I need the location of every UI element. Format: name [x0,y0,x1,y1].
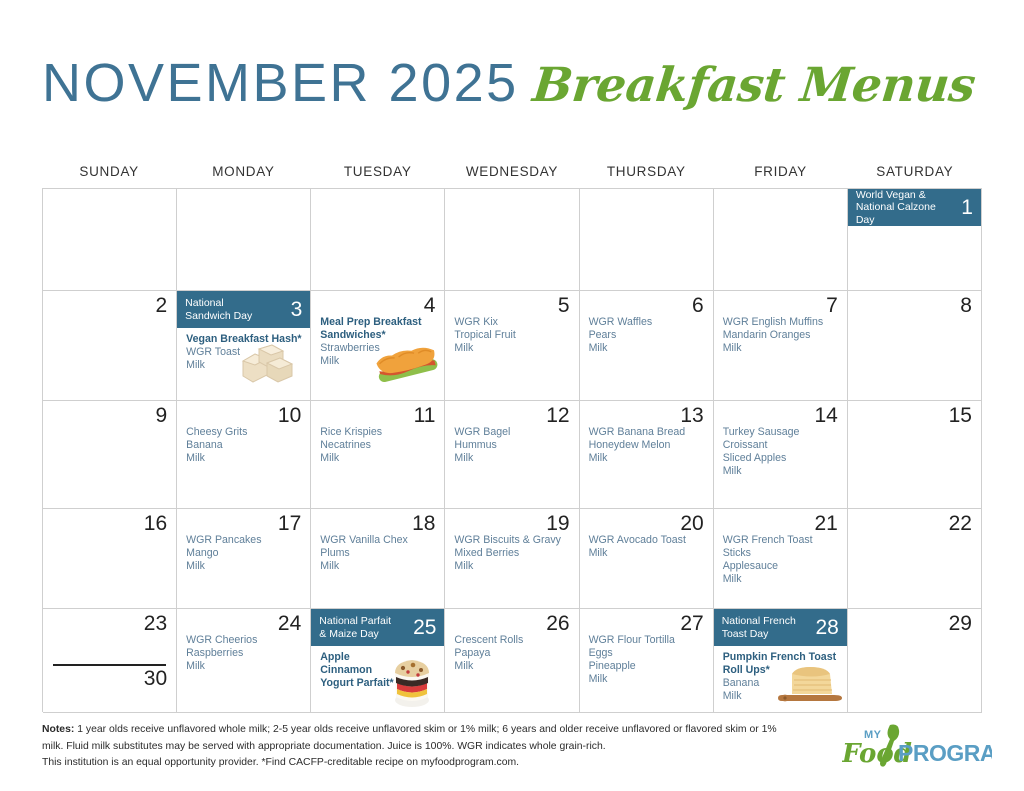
menu-item: WGR Waffles [589,316,708,329]
menu-item: Milk [186,359,305,372]
calendar-cell-15[interactable]: 15 [848,401,982,509]
menu-list: Pumpkin French Toast Roll Ups* Banana Mi… [723,651,842,703]
menu-item: Meal Prep Breakfast Sandwiches* [320,316,439,342]
menu-item: WGR Flour Tortilla [589,634,708,647]
menu-item: Banana [186,439,305,452]
day-number: 7 [826,294,838,317]
calendar-cell-20[interactable]: 20 WGR Avocado Toast Milk [580,509,714,609]
menu-item: Milk [589,547,708,560]
special-day-label: World Vegan & National Calzone Day [856,189,957,226]
menu-item: Mango [186,547,305,560]
calendar-cell-24[interactable]: 24 WGR Cheerios Raspberries Milk [177,609,311,713]
menu-item: Milk [320,355,439,368]
menu-list: WGR Flour Tortilla Eggs Pineapple Milk [589,634,708,686]
calendar-page: NOVEMBER 2025 Breakfast Menus SUNDAY MON… [0,0,1024,791]
menu-item: Milk [186,660,305,673]
menu-item: WGR English Muffins [723,316,842,329]
special-day-banner: World Vegan & National Calzone Day 1 [848,189,981,226]
menu-item: WGR Bagel [454,426,573,439]
calendar-grid: World Vegan & National Calzone Day 1 2 N… [42,188,982,712]
day-number: 1 [957,197,973,218]
calendar-cell-9[interactable]: 9 [43,401,177,509]
menu-list: WGR English Muffins Mandarin Oranges Mil… [723,316,842,355]
menu-item: WGR Banana Bread [589,426,708,439]
menu-item: WGR Biscuits & Gravy [454,534,573,547]
menu-list: WGR Banana Bread Honeydew Melon Milk [589,426,708,465]
calendar-cell-28[interactable]: National French Toast Day 28 Pumpkin Fre… [714,609,848,713]
my-food-program-logo: MY Food PROGRAM [842,722,992,774]
menu-list: WGR Kix Tropical Fruit Milk [454,316,573,355]
menu-item: Milk [454,560,573,573]
day-number: 24 [278,612,301,635]
day-number: 19 [546,512,569,535]
menu-list: Turkey Sausage Croissant Sliced Apples M… [723,426,842,478]
calendar-cell-22[interactable]: 22 [848,509,982,609]
menu-item: Milk [723,342,842,355]
calendar-cell-27[interactable]: 27 WGR Flour Tortilla Eggs Pineapple Mil… [580,609,714,713]
day-number: 10 [278,404,301,427]
menu-list: Cheesy Grits Banana Milk [186,426,305,465]
calendar-cell-12[interactable]: 12 WGR Bagel Hummus Milk [445,401,579,509]
calendar-cell-3[interactable]: National Sandwich Day 3 Vegan Breakfast … [177,291,311,401]
calendar-cell-23-30[interactable]: 23 30 [43,609,177,713]
menu-list: Meal Prep Breakfast Sandwiches* Strawber… [320,316,439,368]
page-title: NOVEMBER 2025 Breakfast Menus [42,56,975,110]
menu-item: Milk [186,560,305,573]
special-day-label: National Sandwich Day [185,297,286,322]
menu-list: WGR French Toast Sticks Applesauce Milk [723,534,842,586]
calendar-cell-21[interactable]: 21 WGR French Toast Sticks Applesauce Mi… [714,509,848,609]
menu-list: WGR Avocado Toast Milk [589,534,708,560]
day-number: 20 [680,512,703,535]
day-number: 16 [144,512,167,535]
menu-item: WGR Toast [186,346,305,359]
menu-item: Banana [723,677,842,690]
menu-list: Apple Cinnamon Yogurt Parfait* [320,651,396,690]
weekday-friday: FRIDAY [713,164,847,188]
menu-item: Raspberries [186,647,305,660]
menu-list: WGR Bagel Hummus Milk [454,426,573,465]
calendar-cell-18[interactable]: 18 WGR Vanilla Chex Plums Milk [311,509,445,609]
calendar-cell-13[interactable]: 13 WGR Banana Bread Honeydew Melon Milk [580,401,714,509]
day-number: 12 [546,404,569,427]
menu-item: Milk [320,452,439,465]
menu-item: Strawberries [320,342,439,355]
calendar-cell-8[interactable]: 8 [848,291,982,401]
menu-item: Milk [589,673,708,686]
menu-list: WGR Waffles Pears Milk [589,316,708,355]
menu-item: Vegan Breakfast Hash* [186,333,305,346]
weekday-monday: MONDAY [176,164,310,188]
special-day-label: National Parfait & Maize Day [319,615,409,640]
day-number: 2 [155,294,167,317]
day-number: 29 [949,612,972,635]
menu-item: Milk [723,573,842,586]
notes-body: 1 year olds receive unflavored whole mil… [42,724,777,752]
menu-list: Rice Krispies Necatrines Milk [320,426,439,465]
calendar-cell-19[interactable]: 19 WGR Biscuits & Gravy Mixed Berries Mi… [445,509,579,609]
notes-second-line: This institution is an equal opportunity… [42,755,782,772]
calendar-cell-26[interactable]: 26 Crescent Rolls Papaya Milk [445,609,579,713]
day-number: 14 [814,404,837,427]
menu-item: Pineapple [589,660,708,673]
calendar-cell-10[interactable]: 10 Cheesy Grits Banana Milk [177,401,311,509]
calendar-cell-blank [43,189,177,291]
special-day-label: National French Toast Day [722,615,812,640]
calendar-cell-2[interactable]: 2 [43,291,177,401]
day-number: 21 [814,512,837,535]
weekday-saturday: SATURDAY [848,164,982,188]
menu-item: WGR French Toast Sticks [723,534,842,560]
menu-item: Milk [589,452,708,465]
day-number: 17 [278,512,301,535]
calendar-cell-blank [714,189,848,291]
menu-item: Applesauce [723,560,842,573]
calendar-cell-blank [445,189,579,291]
menu-item: Milk [454,452,573,465]
menu-item: WGR Cheerios [186,634,305,647]
calendar-cell-16[interactable]: 16 [43,509,177,609]
menu-item: Milk [723,690,842,703]
calendar-cell-14[interactable]: 14 Turkey Sausage Croissant Sliced Apple… [714,401,848,509]
day-number: 11 [414,404,436,427]
menu-item: Plums [320,547,439,560]
weekday-thursday: THURSDAY [579,164,713,188]
menu-list: WGR Biscuits & Gravy Mixed Berries Milk [454,534,573,573]
weekday-tuesday: TUESDAY [311,164,445,188]
menu-item: Milk [454,660,573,673]
menu-item: Croissant [723,439,842,452]
menu-list: Crescent Rolls Papaya Milk [454,634,573,673]
menu-item: Mandarin Oranges [723,329,842,342]
menu-item: WGR Pancakes [186,534,305,547]
menu-item: Apple Cinnamon Yogurt Parfait* [320,651,396,690]
menu-list: WGR Pancakes Mango Milk [186,534,305,573]
day-number: 23 [144,612,167,635]
menu-item: WGR Avocado Toast [589,534,708,547]
calendar-cell-blank [580,189,714,291]
special-day-banner: National Sandwich Day 3 [177,291,310,328]
day-number: 4 [424,294,436,317]
menu-item: Honeydew Melon [589,439,708,452]
calendar-cell-6[interactable]: 6 WGR Waffles Pears Milk [580,291,714,401]
menu-item: Mixed Berries [454,547,573,560]
notes-label: Notes: [42,724,74,735]
calendar-cell-1[interactable]: World Vegan & National Calzone Day 1 [848,189,982,291]
calendar-cell-blank [177,189,311,291]
menu-item: Sliced Apples [723,452,842,465]
menu-item: Cheesy Grits [186,426,305,439]
day-number: 18 [412,512,435,535]
menu-item: Crescent Rolls [454,634,573,647]
day-number: 6 [692,294,704,317]
calendar-cell-4[interactable]: 4 Meal Prep Breakfast Sandwiches* Strawb… [311,291,445,401]
calendar-cell-blank [311,189,445,291]
weekday-wednesday: WEDNESDAY [445,164,579,188]
menu-item: Turkey Sausage [723,426,842,439]
menu-item: Milk [320,560,439,573]
day-number: 13 [680,404,703,427]
day-number: 3 [287,299,303,320]
menu-item: Necatrines [320,439,439,452]
calendar-cell-29[interactable]: 29 [848,609,982,713]
calendar-cell-17[interactable]: 17 WGR Pancakes Mango Milk [177,509,311,609]
menu-item: Eggs [589,647,708,660]
menu-list: WGR Cheerios Raspberries Milk [186,634,305,673]
day-number: 26 [546,612,569,635]
calendar-cell-25[interactable]: National Parfait & Maize Day 25 Apple Ci… [311,609,445,713]
day-number: 8 [960,294,972,317]
menu-list: WGR Vanilla Chex Plums Milk [320,534,439,573]
menu-item: Milk [723,465,842,478]
menu-list: Vegan Breakfast Hash* WGR Toast Milk [186,333,305,372]
day-number: 25 [409,617,436,638]
day-number: 28 [811,617,838,638]
menu-item: Tropical Fruit [454,329,573,342]
month-year-title: NOVEMBER 2025 [42,56,519,110]
day-number: 5 [558,294,570,317]
day-number: 22 [949,512,972,535]
weekday-header-row: SUNDAY MONDAY TUESDAY WEDNESDAY THURSDAY… [42,164,982,188]
menu-item: Milk [186,452,305,465]
menu-item: WGR Kix [454,316,573,329]
weekday-sunday: SUNDAY [42,164,176,188]
footer-notes: Notes: 1 year olds receive unflavored wh… [42,722,782,772]
menu-item: Milk [589,342,708,355]
menu-item: Pumpkin French Toast Roll Ups* [723,651,842,677]
menu-item: Papaya [454,647,573,660]
calendar-cell-11[interactable]: 11 Rice Krispies Necatrines Milk [311,401,445,509]
special-day-banner: National Parfait & Maize Day 25 [311,609,444,646]
day-number: 15 [949,404,972,427]
menu-item: Rice Krispies [320,426,439,439]
menu-item: Milk [454,342,573,355]
calendar-cell-5[interactable]: 5 WGR Kix Tropical Fruit Milk [445,291,579,401]
day-number: 9 [155,404,167,427]
menu-item: Pears [589,329,708,342]
menu-item: Hummus [454,439,573,452]
menus-subtitle: Breakfast Menus [530,62,977,109]
menu-item: WGR Vanilla Chex [320,534,439,547]
day-number-secondary: 30 [144,667,167,690]
svg-text:PROGRAM: PROGRAM [898,740,992,766]
calendar-cell-7[interactable]: 7 WGR English Muffins Mandarin Oranges M… [714,291,848,401]
special-day-banner: National French Toast Day 28 [714,609,847,646]
day-number: 27 [680,612,703,635]
day-split-divider [53,664,166,666]
